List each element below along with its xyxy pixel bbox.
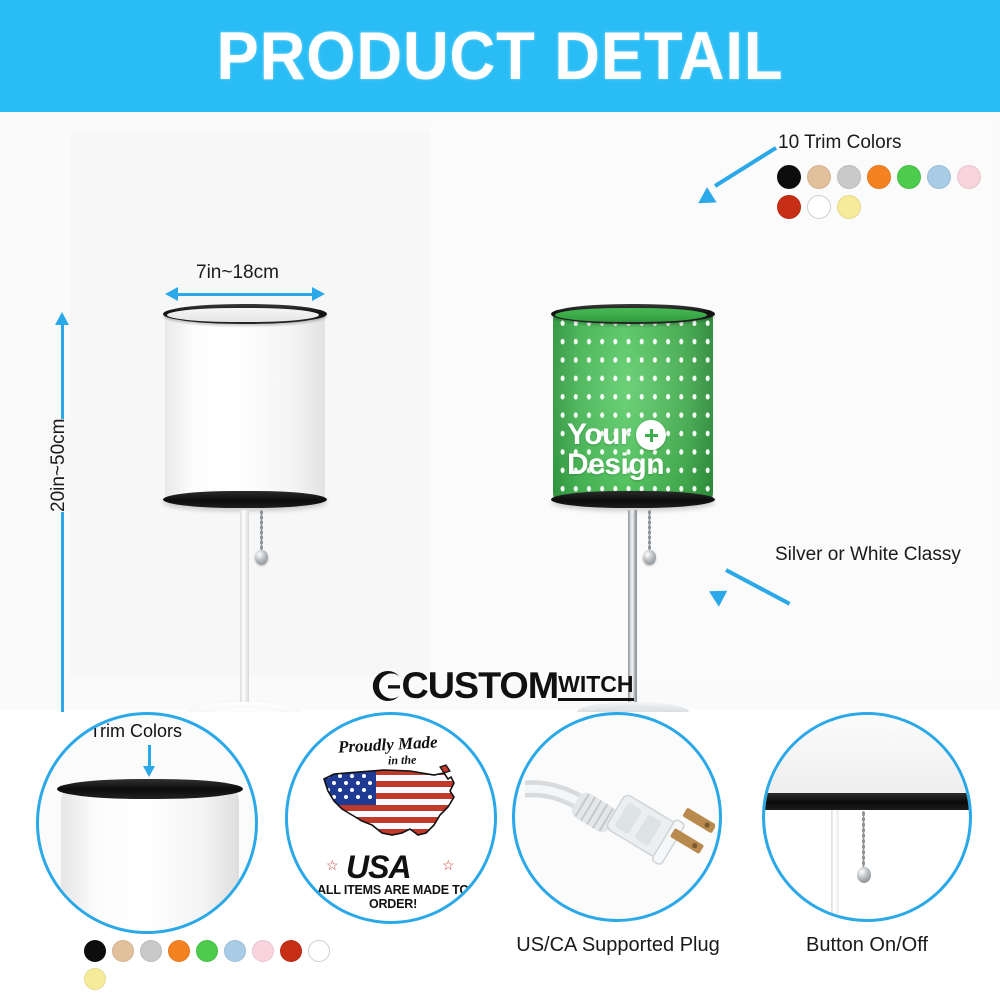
brand-name-primary: CUSTOM (402, 665, 559, 707)
feature-circle: 10 Trim Colors (36, 712, 258, 934)
trim-swatch-white[interactable] (308, 940, 330, 962)
shade-surface (165, 310, 325, 502)
trim-swatch-red[interactable] (777, 195, 801, 219)
usa-line-4: ALL ITEMS ARE MADE TO ORDER! (304, 883, 482, 911)
brand-name-secondary: WITCH (558, 673, 633, 696)
plug-feature-label: US/CA Supported Plug (502, 934, 734, 957)
us-two-prong-plug-icon (525, 755, 715, 885)
trim-swatch-pink[interactable] (252, 940, 274, 962)
brand-logo: CUSTOM WITCH (0, 660, 1000, 712)
shade-closeup (61, 789, 239, 934)
pull-chain-ball[interactable] (255, 550, 268, 565)
shade-bottom-trim (163, 491, 327, 508)
trim-swatch-tan[interactable] (807, 165, 831, 189)
usa-flag-map-icon (314, 763, 472, 847)
trim-swatch-gray[interactable] (140, 940, 162, 962)
base-finish-callout-arrow (708, 552, 798, 612)
trim-swatch-orange[interactable] (168, 940, 190, 962)
usa-line-3: USA (346, 849, 411, 886)
base-finish-callout-label: Silver or White Classy (775, 544, 961, 566)
trim-colors-callout-label: 10 Trim Colors (778, 132, 902, 154)
page-title: PRODUCT DETAIL (35, 0, 965, 112)
width-dimension-label: 7in~18cm (196, 262, 279, 284)
pull-chain-ball-closeup[interactable] (857, 867, 871, 883)
brand-c-mark-icon (366, 668, 402, 704)
trim-swatch-green[interactable] (196, 940, 218, 962)
width-dimension-arrow (165, 287, 325, 301)
trim-swatch-black[interactable] (777, 165, 801, 189)
your-design-placeholder: Your Design (567, 420, 666, 480)
trim-swatch-light-blue[interactable] (224, 940, 246, 962)
feature-row: 10 Trim Colors Proudly Made in the (0, 712, 1000, 1000)
trim-swatch-red[interactable] (280, 940, 302, 962)
shade-bottom-trim (551, 491, 715, 508)
lamp-pole-closeup (831, 810, 839, 915)
design-line-1: Your (567, 420, 631, 450)
pull-chain[interactable] (648, 510, 651, 552)
shade-top-inner (555, 308, 707, 322)
trim-swatch-green[interactable] (897, 165, 921, 189)
usa-star-left: ☆ (326, 857, 339, 874)
made-in-usa-badge: Proudly Made in the (304, 731, 482, 909)
height-dimension-label: 20in~50cm (48, 419, 70, 512)
trim-swatch-yellow[interactable] (84, 968, 106, 990)
trim-swatch-orange[interactable] (867, 165, 891, 189)
trim-swatch-white[interactable] (807, 195, 831, 219)
pull-chain[interactable] (260, 510, 263, 552)
pull-chain-ball[interactable] (643, 550, 656, 565)
plus-circle-icon[interactable] (636, 420, 666, 450)
lamp-shade-blank (165, 304, 325, 508)
page-header-banner: PRODUCT DETAIL (0, 0, 1000, 112)
trim-swatch-light-blue[interactable] (927, 165, 951, 189)
usa-star-right: ☆ (442, 857, 455, 874)
trim-swatch-gray[interactable] (837, 165, 861, 189)
trim-swatch-pink[interactable] (957, 165, 981, 189)
shade-top-trim (163, 304, 327, 324)
trim-swatch-tan[interactable] (112, 940, 134, 962)
pull-chain-closeup[interactable] (862, 811, 865, 869)
shade-top-inner (167, 308, 319, 322)
trim-colors-inner-label: 10 Trim Colors (65, 721, 182, 742)
design-line-2: Design (567, 450, 666, 480)
feature-circle (512, 712, 722, 922)
trim-colors-swatch-grid-bottom (84, 940, 344, 990)
lamp-shade-custom: Your Design (553, 304, 713, 508)
shade-trim-closeup (762, 793, 972, 810)
trim-swatch-black[interactable] (84, 940, 106, 962)
feature-circle (762, 712, 972, 922)
shade-bottom-closeup (762, 715, 972, 797)
trim-colors-swatch-grid-top (777, 165, 1000, 219)
trim-swatch-yellow[interactable] (837, 195, 861, 219)
trim-pointer-arrow (143, 745, 155, 777)
trim-colors-callout-arrow (697, 162, 787, 208)
product-diagram-stage: 7in~18cm 20in~50cm (0, 112, 1000, 710)
switch-feature-label: Button On/Off (762, 934, 972, 957)
shade-top-trim (551, 304, 715, 324)
brand-underline (558, 698, 633, 701)
feature-circle: Proudly Made in the (285, 712, 497, 924)
shade-trim-closeup (57, 779, 243, 799)
